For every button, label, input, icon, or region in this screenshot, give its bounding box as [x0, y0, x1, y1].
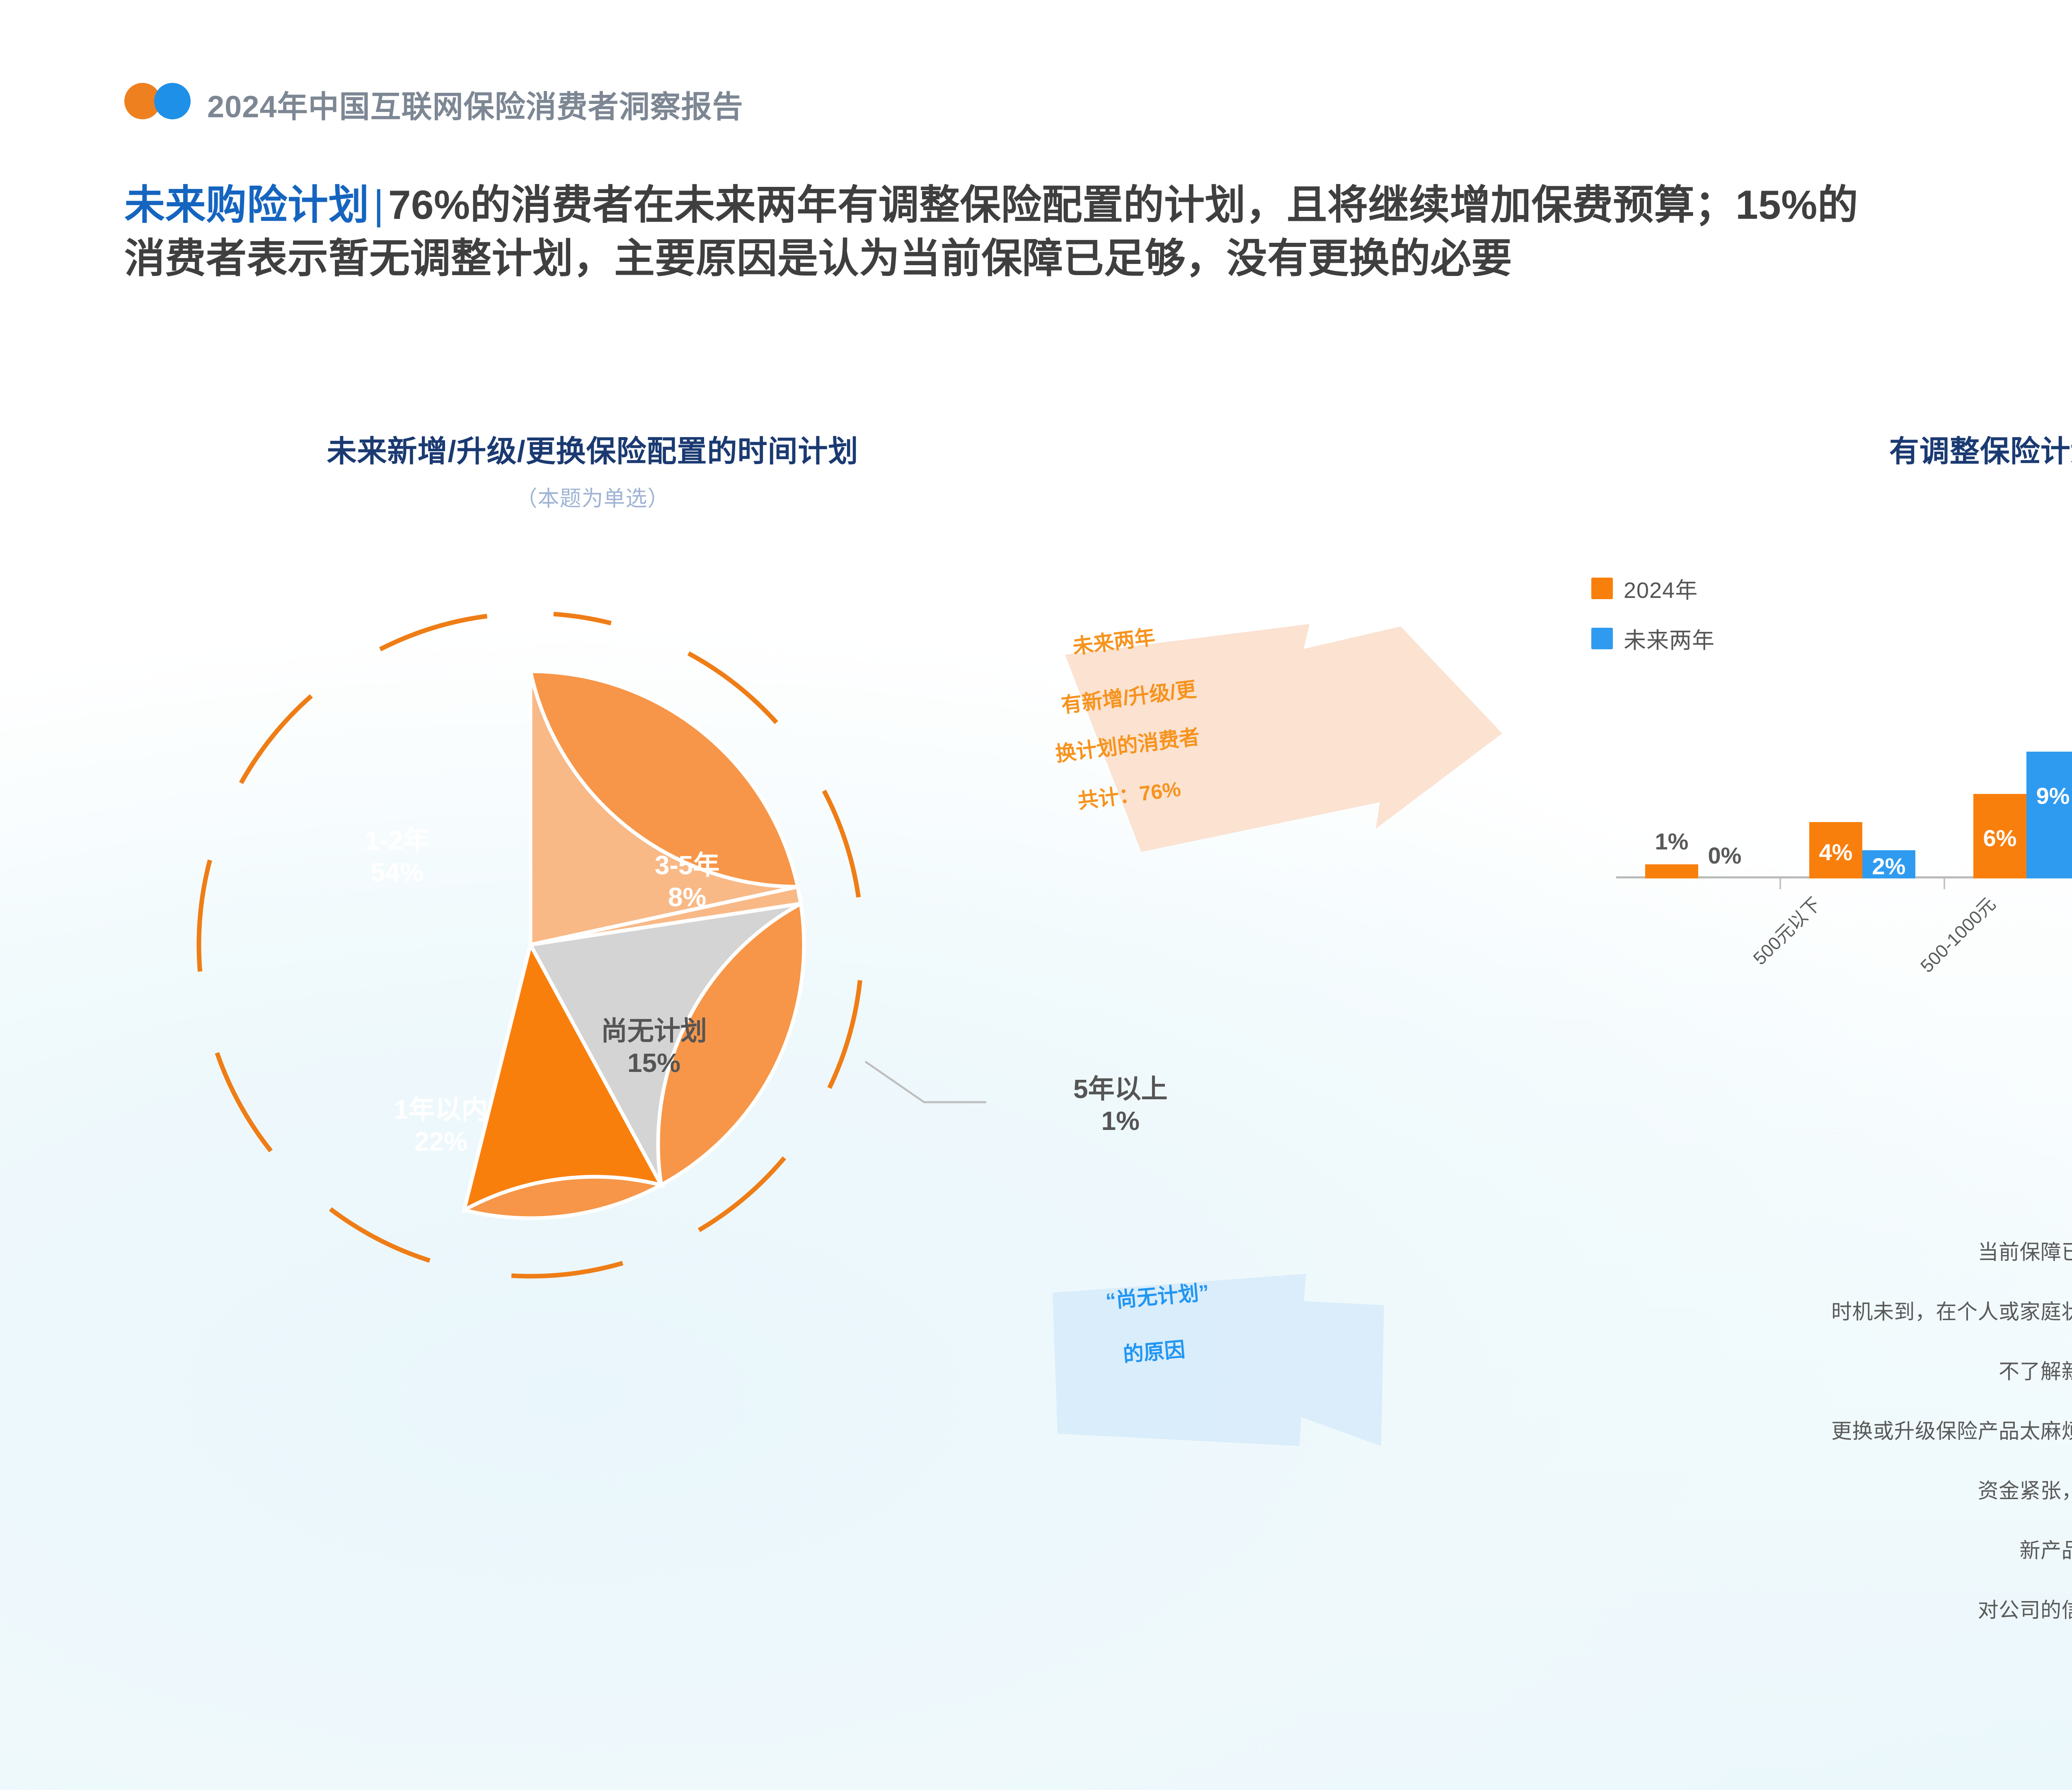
bar-value-2024-0: 1% — [1655, 828, 1689, 855]
column-plot-area: 1% 0% 4% 2% 6% 9% — [1616, 597, 2072, 878]
pie-label-1-2nian: 1-2年 54% — [365, 825, 430, 888]
callout-blue-line-2: 的原因 — [1122, 1337, 1186, 1368]
title-line-1: 76%的消费者在未来两年有调整保险配置的计划，且将继续增加保费预算；15%的 — [388, 182, 1858, 227]
reason-label-6: 对公司的信誉或品牌形象有所担忧 — [1513, 1594, 2072, 1623]
bar-group-0: 1% 0% — [1616, 864, 1780, 878]
callout-blue: “尚无计划” 的原因 — [1053, 1239, 1475, 1496]
reason-row-1: 时机未到，在个人或家庭状况发生变化后再作打算 30% — [1513, 1286, 2072, 1334]
arrow-right-shape-blue-icon — [1053, 1239, 1475, 1496]
pie-label-1nianyinei: 1年以内 22% — [394, 1094, 488, 1158]
bar-value-future-1: 2% — [1872, 853, 1906, 880]
reason-label-4: 资金紧张，不足以购买额外的保险 — [1513, 1474, 2072, 1504]
title-keyword: 未来购险计划 — [124, 182, 369, 227]
reason-row-5: 新产品依然不能满足我的诉求 5% — [1513, 1525, 2072, 1573]
reason-label-2: 不了解新产品的相关信息或优势 — [1513, 1355, 2072, 1385]
brand-dots-icon — [124, 83, 197, 119]
pie-label-3-5nian: 3-5年 8% — [655, 849, 720, 913]
bar-future-1[interactable]: 2% — [1862, 850, 1915, 878]
pie-label-5nianyishang: 5年以上 1% — [1073, 1073, 1168, 1137]
bar-value-future-0: 0% — [1708, 842, 1742, 869]
left-section-title: 未来新增/升级/更换保险配置的时间计划 — [199, 427, 986, 470]
x-tick-1 — [1944, 878, 1945, 889]
bottom-section-header: “尚无计划”的原因 （本题为多选） — [1525, 1069, 2072, 1153]
pie-slices — [253, 667, 808, 1222]
bar-2024-1[interactable]: 4% — [1809, 822, 1862, 878]
bar-2024-2[interactable]: 6% — [1973, 794, 2026, 878]
report-title: 2024年中国互联网保险消费者洞察报告 — [207, 82, 743, 126]
legend-swatch-future-icon — [1591, 628, 1613, 649]
pie-chart: 1-2年 54% 1年以内 22% 尚无计划 15% 3-5年 8% — [178, 593, 883, 1297]
bottom-section-title: “尚无计划”的原因 — [1525, 1069, 2072, 1113]
bar-2024-0[interactable]: 1% — [1645, 864, 1698, 878]
bar-group-1: 4% 2% — [1780, 822, 1944, 878]
bar-group-2: 6% 9% — [1944, 752, 2072, 878]
right-section-subtitle: （本题为单选） — [1525, 481, 2072, 512]
reason-label-0: 当前保障已足够，没有更换的必要 — [1513, 1236, 2072, 1265]
reason-row-7: 其他 0% — [1513, 1644, 2072, 1692]
brand-dot-blue-icon — [154, 83, 191, 119]
x-label-1: 500-1000元 — [1913, 890, 2001, 977]
pie-leader-line — [862, 1052, 1036, 1127]
reason-row-6: 对公司的信誉或品牌形象有所担忧 4% — [1513, 1584, 2072, 1633]
page-title: 未来购险计划|76%的消费者在未来两年有调整保险配置的计划，且将继续增加保费预算… — [124, 178, 2072, 285]
budget-column-chart: 2024年 未来两年 1% 0% 4% — [1566, 572, 2072, 920]
legend-swatch-2024-icon — [1591, 578, 1613, 599]
bottom-section-subtitle: （本题为多选） — [1525, 1122, 2072, 1153]
reason-label-1: 时机未到，在个人或家庭状况发生变化后再作打算 — [1513, 1295, 2072, 1325]
right-section-header: 有调整保险计划的消费者未来家庭年保费预算分布（对比2024） （本题为单选） — [1525, 427, 2072, 512]
left-section-subtitle: （本题为单选） — [199, 481, 986, 512]
callout-orange: 未来两年 有新增/升级/更 换计划的消费者 共计：76% — [1053, 609, 1558, 866]
bar-value-future-2: 9% — [2036, 782, 2070, 809]
reason-label-7: 其他 — [1513, 1653, 2072, 1683]
bar-future-2[interactable]: 9% — [2026, 752, 2072, 878]
left-section-header: 未来新增/升级/更换保险配置的时间计划 （本题为单选） — [199, 427, 986, 512]
pie-label-shangwujihua: 尚无计划 15% — [601, 1015, 707, 1079]
reason-row-3: 更换或升级保险产品太麻烦，不想投入时间和精力 24% — [1513, 1405, 2072, 1454]
x-tick-0 — [1779, 878, 1781, 889]
reason-label-5: 新产品依然不能满足我的诉求 — [1513, 1534, 2072, 1564]
bar-value-2024-1: 4% — [1819, 839, 1853, 866]
reason-row-2: 不了解新产品的相关信息或优势 25% — [1513, 1346, 2072, 1394]
right-section-title: 有调整保险计划的消费者未来家庭年保费预算分布（对比2024） — [1525, 427, 2072, 470]
title-line-2: 消费者表示暂无调整计划，主要原因是认为当前保障已足够，没有更换的必要 — [124, 235, 1512, 281]
reason-row-0: 当前保障已足够，没有更换的必要 64% — [1513, 1226, 2072, 1275]
reasons-bar-chart: 当前保障已足够，没有更换的必要 64% 时机未到，在个人或家庭状况发生变化后再作… — [1513, 1226, 2072, 1704]
bar-value-2024-2: 6% — [1983, 825, 2017, 851]
reason-label-3: 更换或升级保险产品太麻烦，不想投入时间和精力 — [1513, 1415, 2072, 1444]
x-label-0: 500元以下 — [1746, 890, 1826, 970]
reason-row-4: 资金紧张，不足以购买额外的保险 23% — [1513, 1465, 2072, 1513]
title-divider: | — [369, 182, 388, 227]
